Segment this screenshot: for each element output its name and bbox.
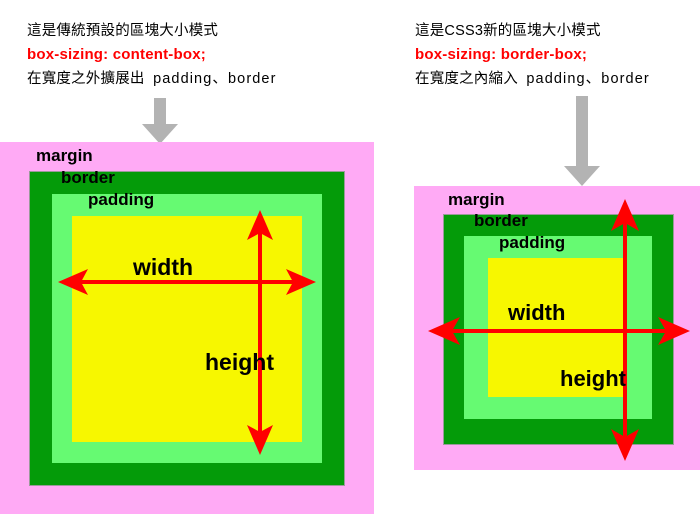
vertical-double-arrow-icon: [610, 199, 640, 461]
down-arrow-icon: [562, 96, 602, 193]
box-model-diagram-border-box: margin border padding width height: [414, 186, 700, 470]
label-height: height: [560, 366, 626, 392]
caption-line-3: 在寬度之外擴展出 padding、border: [27, 68, 277, 91]
label-width: width: [508, 300, 565, 326]
label-margin: margin: [448, 190, 505, 210]
label-height: height: [205, 349, 274, 376]
label-border: border: [61, 168, 115, 188]
label-border: border: [474, 211, 528, 231]
caption-line-1: 這是傳統預設的區塊大小模式: [27, 20, 277, 43]
vertical-double-arrow-icon: [245, 210, 275, 455]
caption-line-3-code: padding、border: [153, 71, 276, 87]
caption-border-box: 這是CSS3新的區塊大小模式 box-sizing: border-box; 在…: [415, 20, 650, 91]
caption-line-3-text: 在寬度之外擴展出: [27, 71, 145, 87]
caption-code-line: box-sizing: content-box;: [27, 43, 277, 67]
label-padding: padding: [499, 233, 565, 253]
caption-line-1: 這是CSS3新的區塊大小模式: [415, 20, 650, 43]
caption-line-3: 在寬度之內縮入 padding、border: [415, 68, 650, 91]
label-width: width: [133, 254, 193, 281]
caption-line-3-text: 在寬度之內縮入: [415, 71, 518, 87]
label-margin: margin: [36, 146, 93, 166]
label-padding: padding: [88, 190, 154, 210]
caption-line-3-code: padding、border: [526, 71, 649, 87]
caption-code-line: box-sizing: border-box;: [415, 43, 650, 67]
caption-content-box: 這是傳統預設的區塊大小模式 box-sizing: content-box; 在…: [27, 20, 277, 91]
box-model-diagram-content-box: margin border padding width height: [0, 142, 374, 514]
